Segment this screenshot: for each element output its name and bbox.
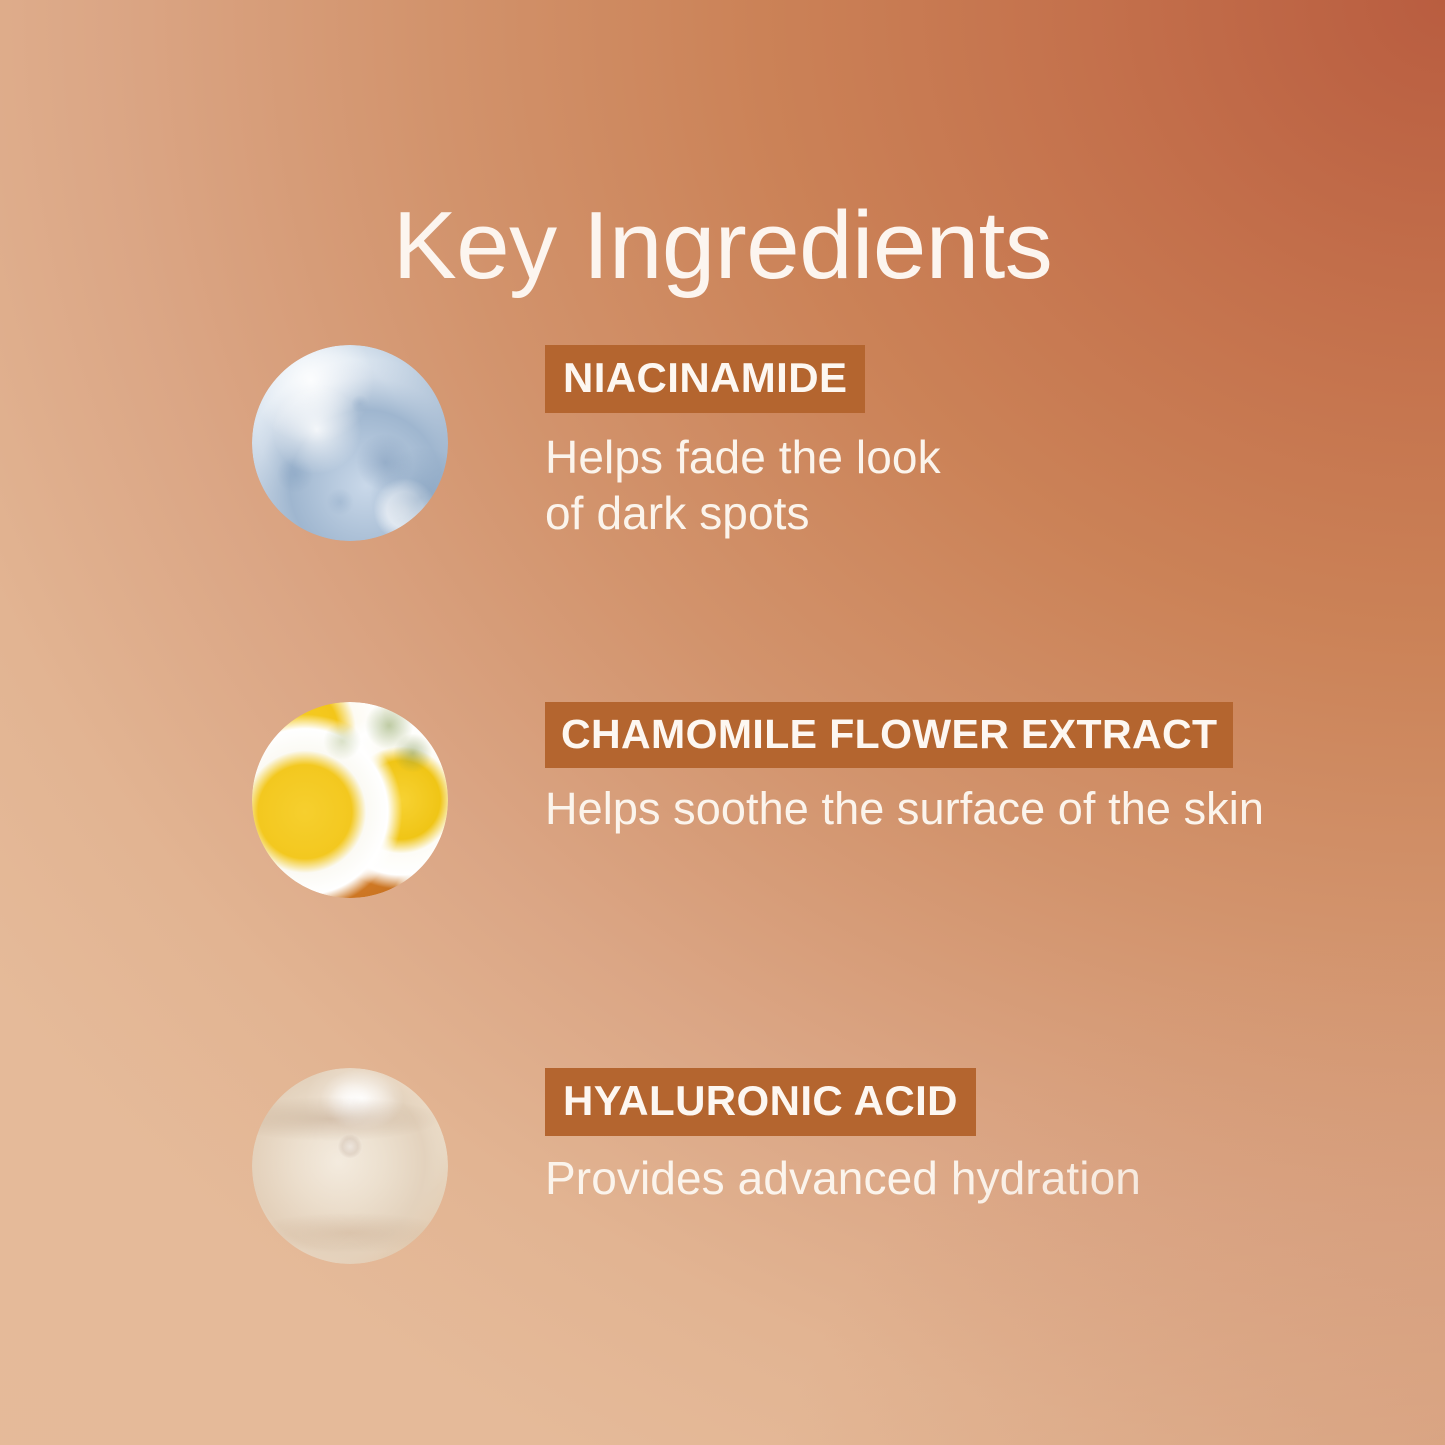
ingredient-item-niacinamide: NIACINAMIDE Helps fade the look of dark … (252, 345, 1412, 545)
ingredient-item-hyaluronic-acid: HYALURONIC ACID Provides advanced hydrat… (252, 1068, 1412, 1268)
ingredient-description: Provides advanced hydration (545, 1150, 1405, 1206)
description-line: Helps fade the look (545, 429, 1405, 485)
ingredient-list: NIACINAMIDE Helps fade the look of dark … (0, 0, 1445, 1445)
ingredient-thumb-niacinamide (252, 345, 448, 541)
key-ingredients-panel: Key Ingredients NIACINAMIDE Helps fade t… (0, 0, 1445, 1445)
clear-serum-gel-image (252, 1068, 448, 1264)
description-line: of dark spots (545, 485, 1405, 541)
chamomile-flowers-image (252, 702, 448, 898)
ingredient-description: Helps fade the look of dark spots (545, 429, 1405, 541)
ingredient-name-badge: CHAMOMILE FLOWER EXTRACT (545, 702, 1233, 768)
ingredient-item-chamomile-flower-extract: CHAMOMILE FLOWER EXTRACT Helps soothe th… (252, 702, 1412, 902)
ingredient-thumb-hyaluronic (252, 1068, 448, 1264)
ingredient-text-niacinamide: NIACINAMIDE Helps fade the look of dark … (545, 345, 1405, 541)
ingredient-name-badge: HYALURONIC ACID (545, 1068, 976, 1136)
description-line: Helps soothe the surface of the skin (545, 782, 1405, 836)
blue-gel-bubbles-image (252, 345, 448, 541)
ingredient-description: Helps soothe the surface of the skin (545, 782, 1405, 836)
ingredient-thumb-chamomile (252, 702, 448, 898)
ingredient-text-chamomile: CHAMOMILE FLOWER EXTRACT Helps soothe th… (545, 702, 1405, 836)
description-line: Provides advanced hydration (545, 1150, 1405, 1206)
ingredient-name-badge: NIACINAMIDE (545, 345, 865, 413)
ingredient-text-hyaluronic: HYALURONIC ACID Provides advanced hydrat… (545, 1068, 1405, 1206)
